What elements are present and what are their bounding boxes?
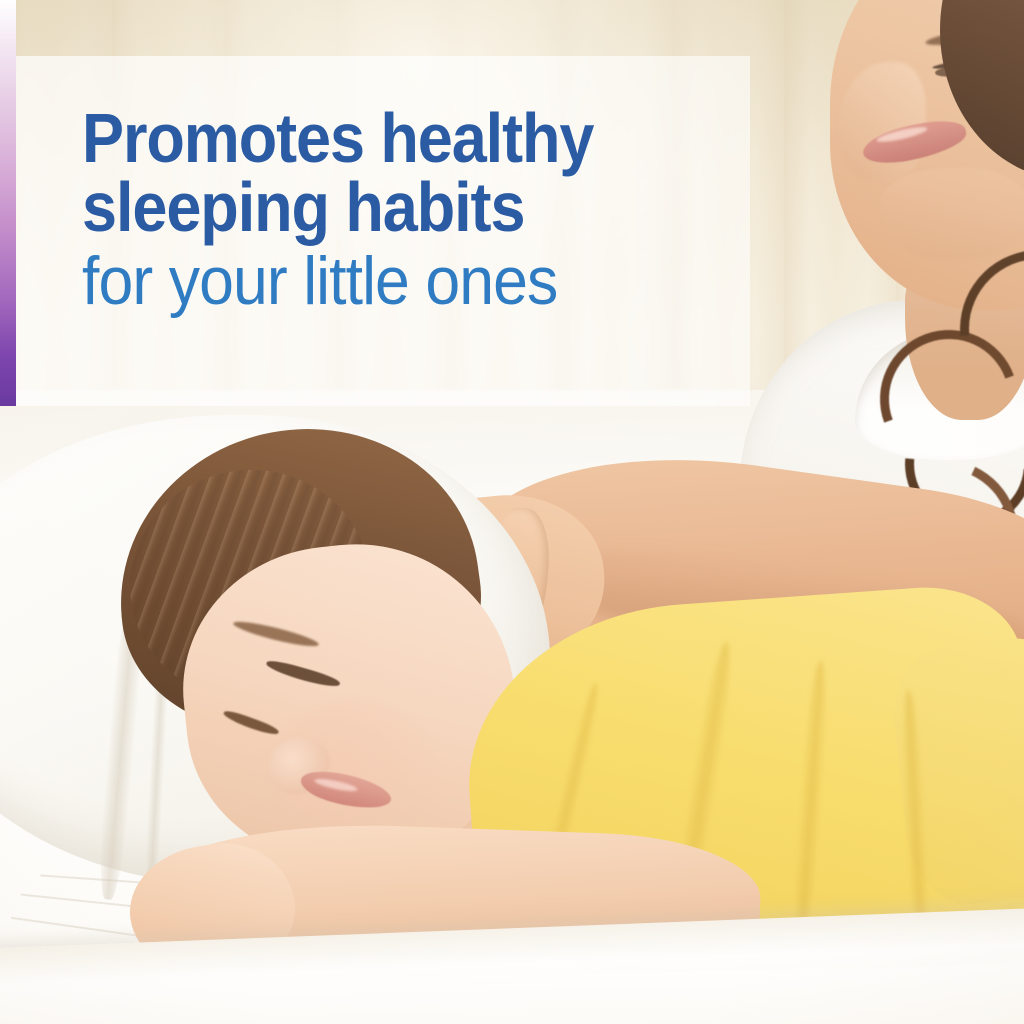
headline-subtext: for your little ones [82,247,671,316]
mother-chin [880,168,1024,260]
headline-block: Promotes healthy sleeping habits for you… [82,104,722,317]
headline-line-1: Promotes healthy [82,104,658,173]
promo-banner: Promotes healthy sleeping habits for you… [0,0,1024,1024]
headline-line-2: sleeping habits [82,173,658,242]
purple-accent-strip [0,0,16,406]
